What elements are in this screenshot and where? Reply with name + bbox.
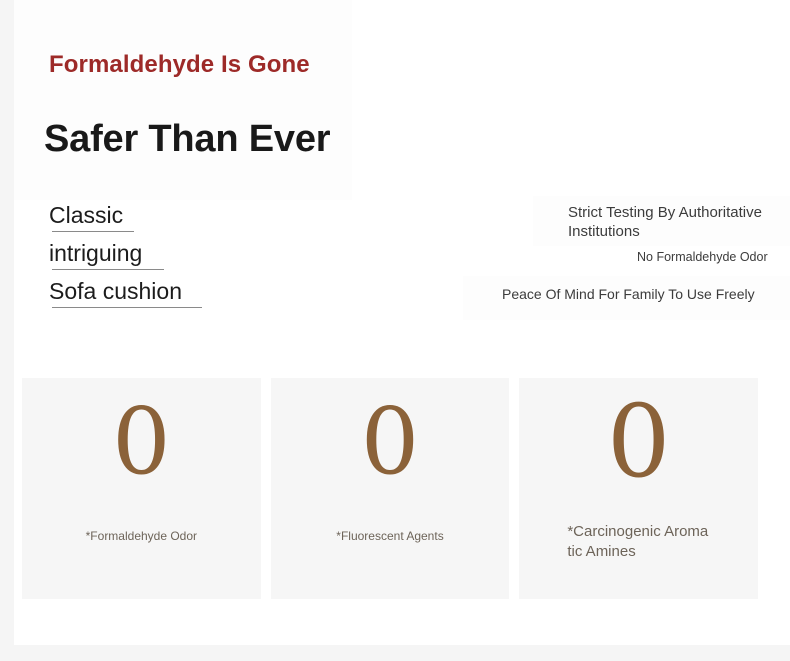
product-banner-page: Formaldehyde Is Gone Safer Than Ever Cla… <box>0 0 790 661</box>
underline-rule <box>52 269 164 270</box>
headline-kicker: Formaldehyde Is Gone <box>49 51 310 79</box>
zero-value-icon: 0 <box>22 396 261 488</box>
product-descriptor-text: Sofa cushion <box>49 278 182 304</box>
product-descriptor-line: intriguing <box>49 238 182 276</box>
feature-card: 0 *Carcinogenic Aromatic Amines <box>519 378 758 599</box>
claim-no-odor: No Formaldehyde Odor <box>637 250 768 264</box>
feature-card: 0 *Fluorescent Agents <box>271 378 510 599</box>
zero-value-icon: 0 <box>519 392 758 492</box>
feature-card-label: *Fluorescent Agents <box>279 528 502 544</box>
claim-testing: Strict Testing By Authoritative Institut… <box>568 203 764 241</box>
feature-card-row: 0 *Formaldehyde Odor 0 *Fluorescent Agen… <box>22 378 758 599</box>
product-descriptor-stack: Classic intriguing Sofa cushion <box>49 200 182 314</box>
underline-rule <box>52 307 202 308</box>
feature-card-label: *Carcinogenic Aromatic Amines <box>567 522 710 562</box>
feature-card: 0 *Formaldehyde Odor <box>22 378 261 599</box>
headline-panel-backdrop <box>14 0 352 200</box>
product-descriptor-text: Classic <box>49 202 123 228</box>
product-descriptor-text: intriguing <box>49 240 142 266</box>
page-title: Safer Than Ever <box>44 118 330 161</box>
underline-rule <box>52 231 134 232</box>
zero-value-icon: 0 <box>271 396 510 488</box>
claim-peace-of-mind: Peace Of Mind For Family To Use Freely <box>502 286 755 302</box>
product-descriptor-line: Classic <box>49 200 182 238</box>
product-descriptor-line: Sofa cushion <box>49 276 182 314</box>
feature-card-label: *Formaldehyde Odor <box>30 528 253 544</box>
